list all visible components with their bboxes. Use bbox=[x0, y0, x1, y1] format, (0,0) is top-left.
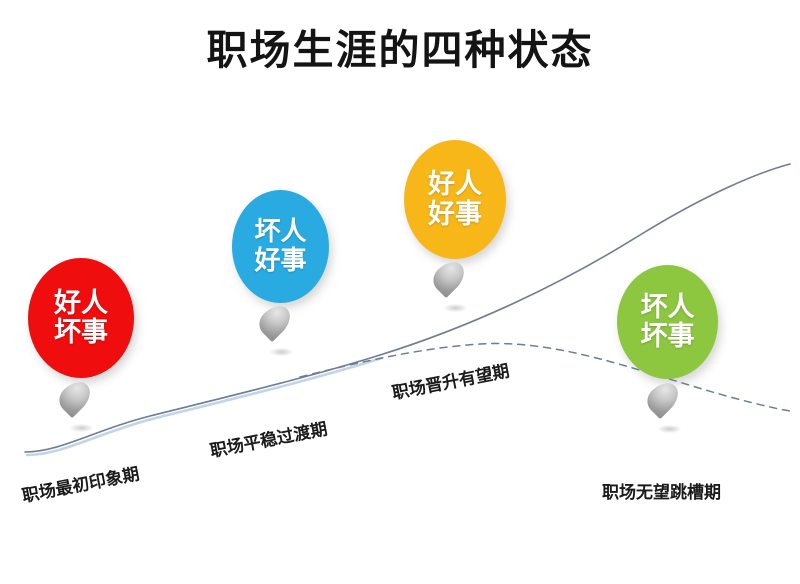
pin-marker-red bbox=[62, 380, 102, 432]
dashed-decline-curve bbox=[300, 343, 790, 411]
balloon-red-line2: 坏事 bbox=[54, 318, 108, 347]
pin-marker-yellow bbox=[436, 260, 476, 312]
pin-marker-green bbox=[650, 381, 690, 433]
infographic-canvas: 职场生涯的四种状态 好人 坏事 坏人 好事 好人 bbox=[0, 0, 800, 584]
pin-shadow bbox=[658, 425, 681, 433]
balloon-red-line1: 好人 bbox=[54, 289, 108, 318]
balloon-yellow-line2: 好事 bbox=[428, 200, 482, 229]
balloon-red[interactable]: 好人 坏事 bbox=[28, 258, 134, 378]
balloon-blue[interactable]: 坏人 好事 bbox=[232, 190, 329, 303]
balloon-blue-line1: 坏人 bbox=[254, 218, 306, 246]
pin-shadow bbox=[270, 348, 293, 356]
stage-label-4: 职场无望跳槽期 bbox=[602, 478, 721, 503]
balloon-green[interactable]: 坏人 坏事 bbox=[617, 265, 718, 379]
pin-shadow bbox=[70, 424, 93, 432]
pin-marker-blue bbox=[262, 304, 302, 356]
pin-shadow bbox=[444, 304, 467, 312]
balloon-green-line1: 坏人 bbox=[641, 293, 695, 322]
balloon-blue-line2: 好事 bbox=[254, 247, 306, 275]
balloon-yellow-line1: 好人 bbox=[428, 170, 482, 199]
balloon-yellow[interactable]: 好人 好事 bbox=[404, 140, 506, 259]
balloon-green-line2: 坏事 bbox=[641, 322, 695, 351]
